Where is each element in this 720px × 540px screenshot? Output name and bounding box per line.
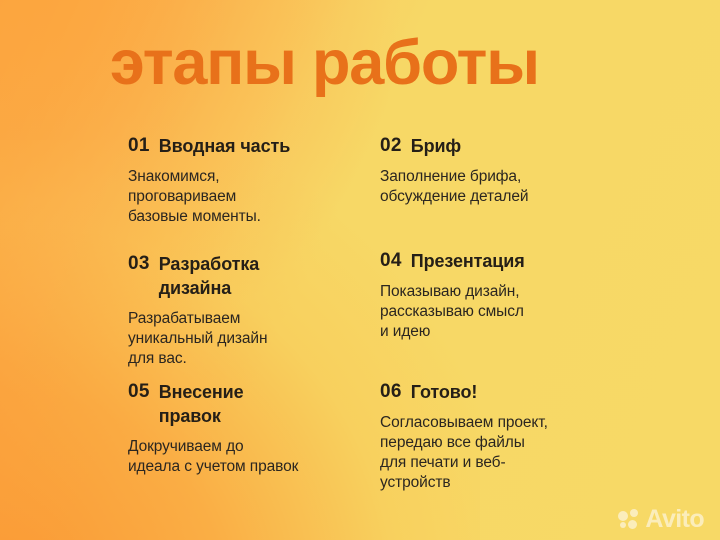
step-title: Презентация [411, 249, 525, 273]
step-number: 01 [128, 134, 150, 158]
avito-dot-large-left [618, 511, 628, 521]
avito-dots-icon [618, 509, 640, 531]
step-item-06: 06 Готово! Согласовываем проект, передаю… [380, 380, 642, 493]
step-number: 05 [128, 380, 150, 404]
step-item-04: 04 Презентация Показываю дизайн, рассказ… [380, 249, 642, 342]
step-item-02: 02 Бриф Заполнение брифа, обсуждение дет… [380, 134, 642, 207]
step-header: 04 Презентация [380, 249, 642, 273]
avito-dot-large-right [628, 520, 637, 529]
step-number: 02 [380, 134, 402, 158]
avito-dot-small-top [630, 509, 638, 517]
step-description: Знакомимся, проговариваем базовые момент… [128, 167, 373, 227]
step-title: Готово! [411, 380, 478, 404]
step-header: 02 Бриф [380, 134, 642, 158]
step-title: Вводная часть [159, 134, 290, 158]
step-description: Разрабатываем уникальный дизайн для вас. [128, 309, 373, 369]
step-description: Показываю дизайн, рассказываю смысл и ид… [380, 282, 642, 342]
step-header: 05 Внесение правок [128, 380, 373, 428]
poster-content: этапы работы 01 Вводная часть Знакомимся… [0, 0, 720, 540]
avito-watermark: Avito [618, 507, 704, 532]
step-number: 06 [380, 380, 402, 404]
step-title: Бриф [411, 134, 461, 158]
step-item-01: 01 Вводная часть Знакомимся, проговарива… [128, 134, 373, 227]
step-title: Внесение правок [159, 380, 244, 428]
step-number: 03 [128, 252, 150, 276]
step-description: Заполнение брифа, обсуждение деталей [380, 167, 642, 207]
step-header: 01 Вводная часть [128, 134, 373, 158]
step-header: 06 Готово! [380, 380, 642, 404]
step-item-03: 03 Разработка дизайна Разрабатываем уник… [128, 252, 373, 369]
poster-canvas: этапы работы 01 Вводная часть Знакомимся… [0, 0, 720, 540]
step-description: Докручиваем до идеала с учетом правок [128, 437, 373, 477]
avito-wordmark: Avito [645, 507, 704, 532]
step-header: 03 Разработка дизайна [128, 252, 373, 300]
step-description: Согласовываем проект, передаю все файлы … [380, 413, 642, 493]
avito-dot-small-bottom [620, 522, 626, 528]
step-item-05: 05 Внесение правок Докручиваем до идеала… [128, 380, 373, 477]
step-title: Разработка дизайна [159, 252, 259, 300]
step-number: 04 [380, 249, 402, 273]
page-title: этапы работы [110, 28, 539, 98]
